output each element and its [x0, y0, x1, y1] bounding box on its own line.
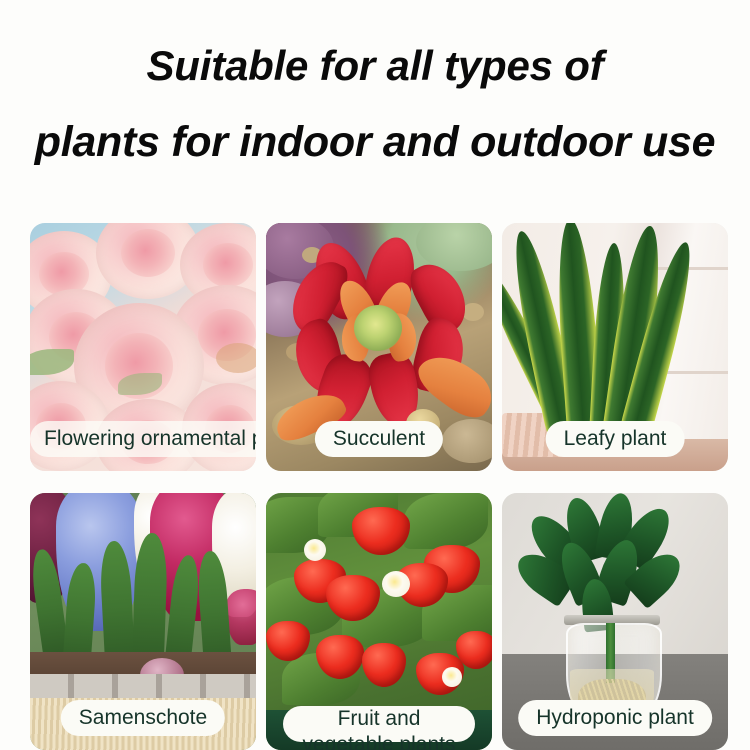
tile-flowering-ornamental-plant[interactable]: Flowering ornamental plant — [30, 223, 256, 471]
page-title-line-2: plants for indoor and outdoor use — [0, 104, 750, 180]
caption-fruit-and-vegetable-plants: Fruit and vegetable plants — [283, 706, 475, 742]
caption-flowering-ornamental-plant: Flowering ornamental plant — [30, 421, 256, 457]
page-title: Suitable for all types of plants for ind… — [0, 28, 750, 180]
tile-fruit-and-vegetable-plants[interactable]: Fruit and vegetable plants — [266, 493, 492, 750]
tile-succulent[interactable]: Succulent — [266, 223, 492, 471]
caption-label: Fruit and vegetable plants — [303, 707, 456, 750]
caption-leafy-plant: Leafy plant — [546, 421, 685, 457]
tile-hydroponic-plant[interactable]: Hydroponic plant — [502, 493, 728, 750]
tile-samenschote[interactable]: Samenschote — [30, 493, 256, 750]
caption-succulent: Succulent — [315, 421, 443, 457]
caption-samenschote: Samenschote — [61, 700, 225, 736]
caption-label: Flowering ornamental plant — [30, 421, 256, 457]
caption-label: Samenschote — [79, 706, 207, 729]
tile-leafy-plant[interactable]: Leafy plant — [502, 223, 728, 471]
caption-label: Leafy plant — [564, 427, 667, 450]
caption-hydroponic-plant: Hydroponic plant — [518, 700, 712, 736]
caption-label: Hydroponic plant — [536, 706, 694, 729]
page-title-line-1: Suitable for all types of — [0, 28, 750, 104]
plant-type-grid: Flowering ornamental plant — [30, 223, 720, 750]
caption-label: Succulent — [333, 427, 425, 450]
